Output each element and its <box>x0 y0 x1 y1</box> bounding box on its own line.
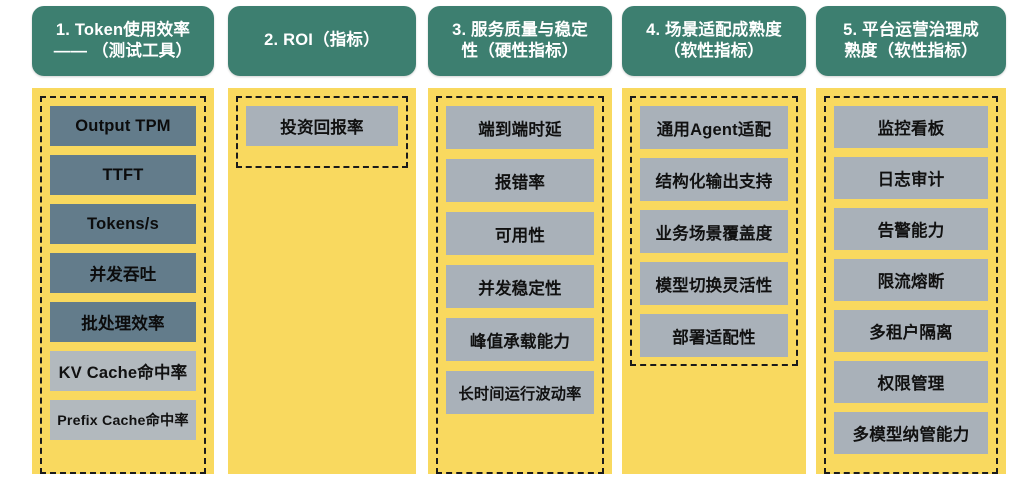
column-header-line1: 1. Token使用效率 <box>54 20 192 41</box>
metric-chip[interactable]: 并发稳定性 <box>446 265 594 308</box>
column-header-line1: 2. ROI（指标） <box>264 30 380 51</box>
evaluation-framework-board: 1. Token使用效率—— （测试工具）Output TPMTTFTToken… <box>0 0 1022 497</box>
metric-chip[interactable]: 结构化输出支持 <box>640 158 788 201</box>
metric-chip[interactable]: 并发吞吐 <box>50 253 196 293</box>
metric-chip[interactable]: Output TPM <box>50 106 196 146</box>
column-header-line1: 3. 服务质量与稳定 <box>452 20 588 41</box>
column-panel-token-efficiency: Output TPMTTFTTokens/s并发吞吐批处理效率KV Cache命… <box>32 88 214 474</box>
metric-chip[interactable]: 可用性 <box>446 212 594 255</box>
column-header-token-efficiency[interactable]: 1. Token使用效率—— （测试工具） <box>32 6 214 76</box>
column-panel-service-quality-stability: 端到端时延报错率可用性并发稳定性峰值承载能力长时间运行波动率 <box>428 88 612 474</box>
metric-chip[interactable]: 部署适配性 <box>640 314 788 357</box>
metric-chip[interactable]: 日志审计 <box>834 157 988 199</box>
column-header-line2: —— （测试工具） <box>54 41 192 62</box>
metric-chip[interactable]: 多租户隔离 <box>834 310 988 352</box>
column-panel-roi: 投资回报率 <box>228 88 416 474</box>
column-panel-platform-governance-maturity: 监控看板日志审计告警能力限流熔断多租户隔离权限管理多模型纳管能力 <box>816 88 1006 474</box>
metric-group-platform-governance-maturity: 监控看板日志审计告警能力限流熔断多租户隔离权限管理多模型纳管能力 <box>824 96 998 474</box>
category-column-token-efficiency: 1. Token使用效率—— （测试工具）Output TPMTTFTToken… <box>32 0 214 497</box>
metric-chip[interactable]: 批处理效率 <box>50 302 196 342</box>
metric-chip[interactable]: 长时间运行波动率 <box>446 371 594 414</box>
column-header-line2: （软性指标） <box>646 41 782 62</box>
metric-chip[interactable]: 限流熔断 <box>834 259 988 301</box>
metric-group-roi: 投资回报率 <box>236 96 408 168</box>
metric-chip[interactable]: 通用Agent适配 <box>640 106 788 149</box>
metric-chip[interactable]: 监控看板 <box>834 106 988 148</box>
column-header-line2: 性（硬性指标） <box>452 41 588 62</box>
category-column-service-quality-stability: 3. 服务质量与稳定性（硬性指标）端到端时延报错率可用性并发稳定性峰值承载能力长… <box>428 0 612 497</box>
metric-chip[interactable]: Prefix Cache命中率 <box>50 400 196 440</box>
column-panel-scenario-adaptation-maturity: 通用Agent适配结构化输出支持业务场景覆盖度模型切换灵活性部署适配性 <box>622 88 806 474</box>
metric-chip[interactable]: TTFT <box>50 155 196 195</box>
column-header-line2: 熟度（软性指标） <box>843 41 979 62</box>
column-header-line1: 4. 场景适配成熟度 <box>646 20 782 41</box>
metric-chip[interactable]: 权限管理 <box>834 361 988 403</box>
column-header-roi[interactable]: 2. ROI（指标） <box>228 6 416 76</box>
metric-chip[interactable]: KV Cache命中率 <box>50 351 196 391</box>
metric-chip[interactable]: Tokens/s <box>50 204 196 244</box>
metric-chip[interactable]: 告警能力 <box>834 208 988 250</box>
metric-chip[interactable]: 业务场景覆盖度 <box>640 210 788 253</box>
category-column-platform-governance-maturity: 5. 平台运营治理成熟度（软性指标）监控看板日志审计告警能力限流熔断多租户隔离权… <box>816 0 1006 497</box>
column-header-scenario-adaptation-maturity[interactable]: 4. 场景适配成熟度（软性指标） <box>622 6 806 76</box>
metric-group-token-efficiency: Output TPMTTFTTokens/s并发吞吐批处理效率KV Cache命… <box>40 96 206 474</box>
metric-group-service-quality-stability: 端到端时延报错率可用性并发稳定性峰值承载能力长时间运行波动率 <box>436 96 604 474</box>
category-column-scenario-adaptation-maturity: 4. 场景适配成熟度（软性指标）通用Agent适配结构化输出支持业务场景覆盖度模… <box>622 0 806 497</box>
column-header-platform-governance-maturity[interactable]: 5. 平台运营治理成熟度（软性指标） <box>816 6 1006 76</box>
metric-chip[interactable]: 端到端时延 <box>446 106 594 149</box>
metric-chip[interactable]: 峰值承载能力 <box>446 318 594 361</box>
column-header-service-quality-stability[interactable]: 3. 服务质量与稳定性（硬性指标） <box>428 6 612 76</box>
metric-chip[interactable]: 模型切换灵活性 <box>640 262 788 305</box>
column-header-line1: 5. 平台运营治理成 <box>843 20 979 41</box>
metric-chip[interactable]: 多模型纳管能力 <box>834 412 988 454</box>
metric-chip[interactable]: 报错率 <box>446 159 594 202</box>
category-column-roi: 2. ROI（指标）投资回报率 <box>228 0 416 497</box>
metric-chip[interactable]: 投资回报率 <box>246 106 398 146</box>
metric-group-scenario-adaptation-maturity: 通用Agent适配结构化输出支持业务场景覆盖度模型切换灵活性部署适配性 <box>630 96 798 366</box>
